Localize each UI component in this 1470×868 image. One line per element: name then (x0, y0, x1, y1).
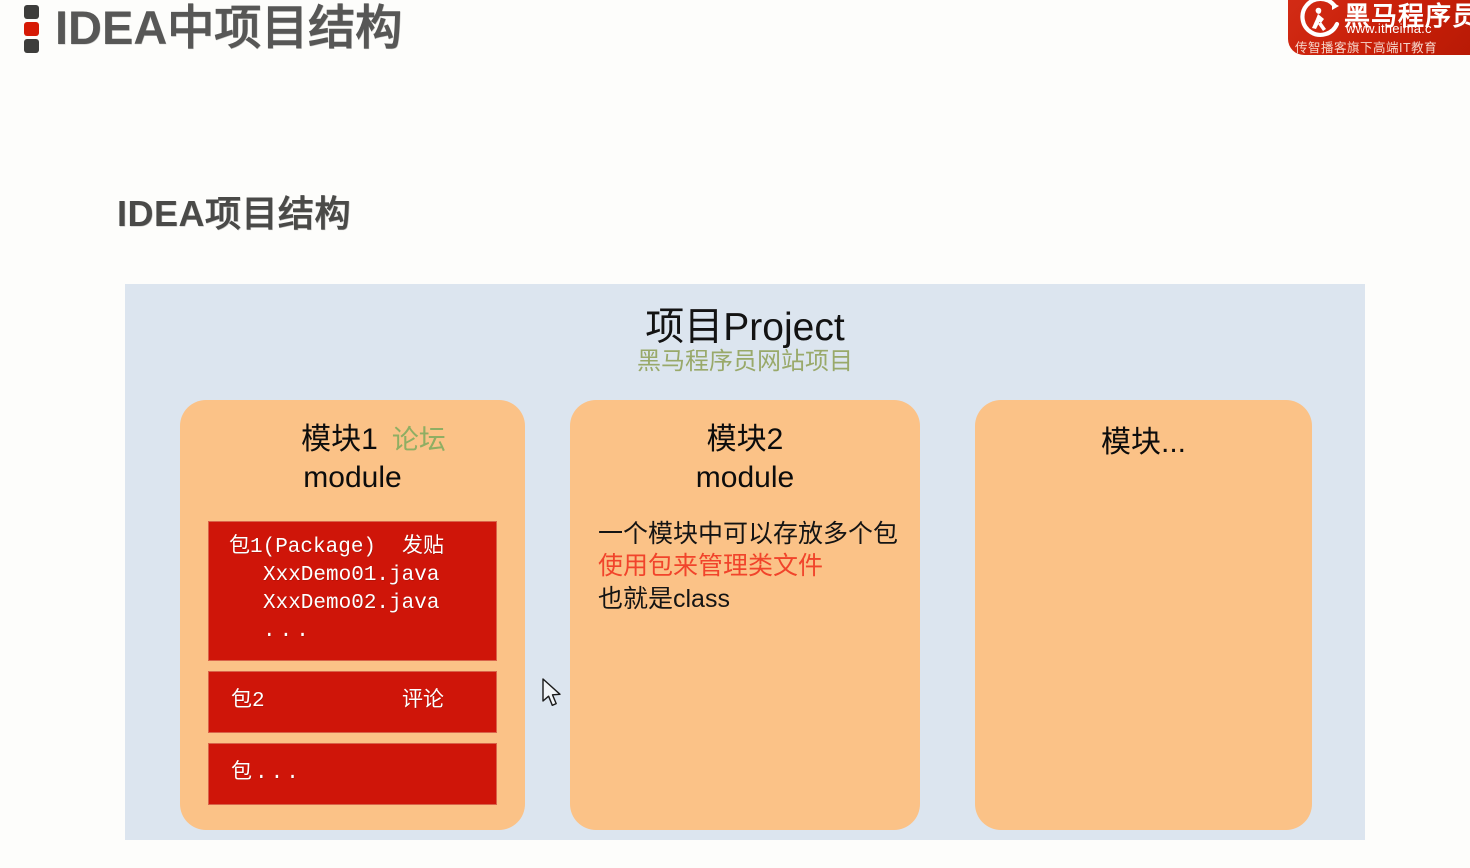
module-1-tag: 论坛 (392, 425, 446, 455)
project-subtitle: 黑马程序员网站项目 (125, 348, 1365, 376)
brand-badge: 黑马程序员 www.itheima.c 传智播客旗下高端IT教育 (1288, 0, 1470, 55)
package-1-more: ... (229, 618, 496, 646)
module-2-note-2: 使用包来管理类文件 (598, 550, 900, 582)
module-1-title: 模块1论坛 module (180, 400, 525, 497)
module-box-1: 模块1论坛 module 包1(Package) 发贴 XxxDemo01.ja… (180, 400, 525, 830)
package-1-header: 包1(Package) 发贴 (229, 534, 496, 562)
package-1-tag: 发贴 (402, 534, 444, 562)
module-3-name: 模块... (1101, 426, 1186, 459)
page-title: IDEA中项目结构 (55, 4, 402, 51)
package-1-file-1: XxxDemo01.java (229, 562, 496, 590)
module-1-name: 模块1 (301, 423, 378, 456)
package-1-label: 包1(Package) (229, 534, 376, 562)
module-2-note-3: 也就是class (598, 583, 900, 615)
module-2-name: 模块2 (707, 423, 784, 456)
module-1-package-list: 包1(Package) 发贴 XxxDemo01.java XxxDemo02.… (208, 521, 497, 805)
section-heading: IDEA项目结构 (117, 185, 351, 237)
project-title: 项目Project (125, 306, 1365, 350)
package-box-3: 包... (208, 743, 497, 805)
module-1-subname: module (180, 459, 525, 497)
module-3-title: 模块... (975, 400, 1312, 462)
package-2-tag: 评论 (402, 688, 474, 716)
brand-slogan: 传智播客旗下高端IT教育 (1295, 37, 1437, 55)
module-2-subname: module (570, 459, 920, 497)
project-panel: 项目Project 黑马程序员网站项目 模块1论坛 module 包1(Pack… (125, 284, 1365, 840)
itheima-horse-rider-logo-icon (1296, 0, 1342, 42)
module-2-note-1: 一个模块中可以存放多个包 (598, 518, 900, 550)
three-squares-bullet-icon (24, 5, 39, 53)
slide-title-bar: IDEA中项目结构 (24, 2, 402, 53)
package-3-label: 包... (231, 760, 302, 788)
package-box-1: 包1(Package) 发贴 XxxDemo01.java XxxDemo02.… (208, 521, 497, 661)
package-2-label: 包2 (231, 688, 265, 716)
module-box-3: 模块... (975, 400, 1312, 830)
module-2-title: 模块2 module (570, 400, 920, 497)
project-title-block: 项目Project 黑马程序员网站项目 (125, 306, 1365, 375)
package-1-file-2: XxxDemo02.java (229, 590, 496, 618)
package-box-2: 包2 评论 (208, 671, 497, 733)
brand-url: www.itheima.c (1346, 21, 1432, 36)
module-2-notes: 一个模块中可以存放多个包 使用包来管理类文件 也就是class (598, 518, 900, 615)
module-box-2: 模块2 module 一个模块中可以存放多个包 使用包来管理类文件 也就是cla… (570, 400, 920, 830)
